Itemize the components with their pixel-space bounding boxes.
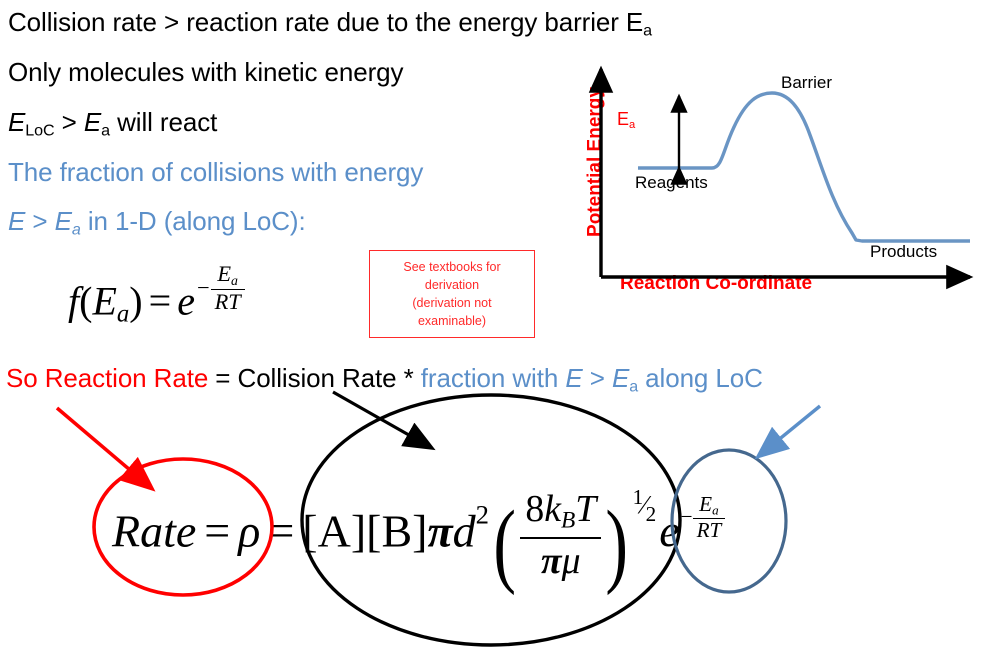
- note-line-1: See textbooks for: [370, 258, 534, 276]
- bullet-5-tail: in 1-D (along LoC):: [81, 206, 306, 236]
- greater-than-1: >: [55, 107, 84, 137]
- e-a-symbol-2: E: [55, 206, 72, 236]
- e-symbol-2: E: [8, 206, 25, 236]
- eq-d: d: [453, 505, 476, 556]
- slide-canvas: Collision rate > reaction rate due to th…: [0, 0, 983, 651]
- rate-blue-E1: E: [565, 363, 582, 393]
- e-loc-subscript: LoC: [25, 122, 54, 140]
- greater-than-2: >: [25, 206, 54, 236]
- formula-close-paren: ): [129, 278, 142, 323]
- textbook-note-box: See textbooks for derivation (derivation…: [369, 250, 535, 338]
- note-line-2: derivation: [370, 276, 534, 294]
- bullet-line-4: The fraction of collisions with energy: [8, 158, 423, 187]
- eq-num-k-sub: B: [561, 508, 575, 534]
- bullet-2-text: Only molecules with kinetic energy: [8, 57, 403, 87]
- formula-exp-fraction: EaRT: [211, 262, 245, 314]
- formula-exp-numerator: Ea: [211, 262, 245, 289]
- bullet-line-3: ELoC > Ea will react: [8, 108, 217, 140]
- eq-e-num-E: E: [699, 492, 712, 516]
- note-line-4: examinable): [370, 312, 534, 330]
- e-a-symbol-1: E: [84, 107, 101, 137]
- eq-e-num: Ea: [693, 493, 726, 517]
- rate-blue-gt: >: [583, 363, 612, 393]
- eq-paren-close: ): [606, 497, 629, 591]
- eq-e-base: e: [659, 505, 679, 556]
- main-rate-equation: Rate=ρ=[A][B]πd2(8kBTπμ)1⁄2e−EaRT: [112, 487, 725, 591]
- bullet-4-text: The fraction of collisions with energy: [8, 157, 423, 187]
- eq-pi: π: [427, 505, 452, 556]
- eq-frac-denominator: πμ: [520, 537, 601, 582]
- eq-num-T: T: [575, 488, 596, 530]
- bullet-3-tail: will react: [110, 107, 217, 137]
- energy-profile-diagram: Potential Energy Reaction Co-ordinate Ea…: [560, 55, 983, 310]
- eq-rate-word: Rate: [112, 505, 196, 556]
- eq-equals-1: =: [204, 505, 230, 556]
- rate-blue-tail: along LoC: [638, 363, 763, 393]
- eq-e-fraction: EaRT: [693, 493, 726, 541]
- eq-num-8: 8: [525, 488, 544, 530]
- exp-num-sub: a: [231, 274, 238, 289]
- eq-e-num-sub: a: [712, 503, 719, 518]
- e-a-subscript-1: a: [101, 122, 110, 140]
- eq-e-exponent: −EaRT: [681, 493, 726, 541]
- formula-exp-denominator: RT: [211, 289, 245, 314]
- bullet-1-subscript: a: [643, 22, 652, 40]
- eq-conc-B: [B]: [366, 505, 427, 556]
- eq-big-fraction: 8kBTπμ: [520, 489, 601, 582]
- e-loc-symbol: E: [8, 107, 25, 137]
- bullet-line-5: E > Ea in 1-D (along LoC):: [8, 207, 306, 239]
- bullet-1-text: Collision rate > reaction rate due to th…: [8, 7, 643, 37]
- eq-pow-den: 2: [646, 502, 656, 526]
- eq-den-pi: π: [541, 540, 562, 582]
- eq-frac-numerator: 8kBT: [520, 489, 601, 536]
- formula-open-paren: (: [79, 278, 92, 323]
- eq-den-mu: μ: [562, 540, 581, 582]
- blue-arrow: [760, 406, 820, 455]
- energy-profile-curve: [638, 93, 970, 241]
- diagram-svg: [560, 55, 983, 310]
- red-arrow: [57, 408, 150, 487]
- eq-num-k: k: [544, 488, 561, 530]
- eq-paren-open: (: [493, 497, 516, 591]
- rate-statement-line: So Reaction Rate = Collision Rate * frac…: [6, 364, 763, 396]
- rate-red-part: So Reaction Rate: [6, 363, 208, 393]
- bullet-line-2: Only molecules with kinetic energy: [8, 58, 403, 87]
- rate-blue-pre: fraction with: [421, 363, 566, 393]
- exp-num-E: E: [217, 261, 231, 286]
- eq-d-power: 2: [476, 500, 489, 530]
- formula-e-base: e: [177, 278, 195, 323]
- formula-E: E: [92, 278, 116, 323]
- eq-e-minus: −: [681, 505, 693, 529]
- eq-e-den: RT: [693, 518, 726, 541]
- rate-black-part: = Collision Rate *: [208, 363, 421, 393]
- formula-equals: =: [149, 278, 172, 323]
- bullet-line-1: Collision rate > reaction rate due to th…: [8, 8, 652, 40]
- formula-f: f: [68, 278, 79, 323]
- formula-E-subscript: a: [117, 300, 129, 327]
- eq-rho: ρ: [238, 505, 260, 556]
- rate-blue-E2-sub: a: [629, 378, 638, 396]
- e-a-subscript-2: a: [72, 221, 81, 239]
- fraction-formula: f(Ea)=e−EaRT: [68, 262, 245, 328]
- formula-exponent: −EaRT: [197, 262, 245, 314]
- eq-pow-num: 1: [633, 485, 643, 509]
- rate-blue-E2: E: [612, 363, 629, 393]
- eq-half-power: 1⁄2: [633, 487, 656, 525]
- formula-exp-minus: −: [197, 275, 210, 301]
- black-arrow: [333, 392, 430, 447]
- note-line-3: (derivation not: [370, 294, 534, 312]
- eq-equals-2: =: [268, 505, 294, 556]
- eq-conc-A: [A]: [302, 505, 366, 556]
